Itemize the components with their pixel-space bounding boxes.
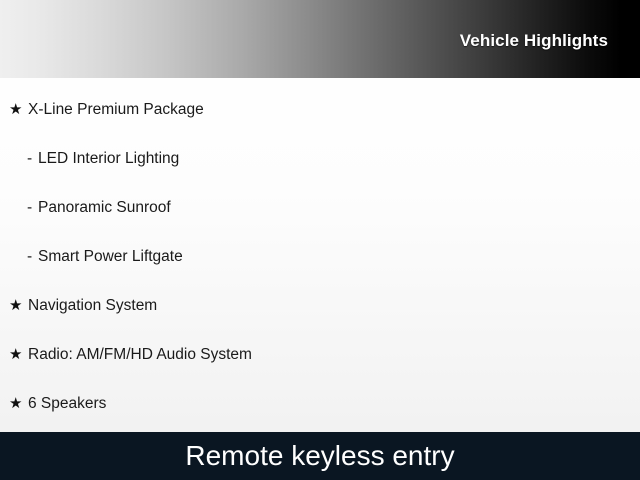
highlight-item: -Smart Power Liftgate: [0, 232, 640, 281]
dash-bullet-icon: -: [27, 200, 38, 216]
header-banner: Vehicle Highlights: [0, 0, 640, 78]
page-title: Vehicle Highlights: [460, 31, 608, 51]
highlight-item-label: X-Line Premium Package: [28, 102, 204, 118]
highlight-item-label: Navigation System: [28, 298, 157, 314]
dash-bullet-icon: -: [27, 249, 38, 265]
highlight-item-label: Radio: AM/FM/HD Audio System: [28, 347, 252, 363]
highlight-item-label: Smart Power Liftgate: [38, 249, 183, 265]
star-bullet-icon: ★: [9, 347, 28, 362]
highlights-list: ★X-Line Premium Package-LED Interior Lig…: [0, 78, 640, 432]
star-bullet-icon: ★: [9, 102, 28, 117]
star-bullet-icon: ★: [9, 396, 28, 411]
highlight-item: ★Radio: AM/FM/HD Audio System: [0, 330, 640, 379]
star-bullet-icon: ★: [9, 298, 28, 313]
highlight-item: ★X-Line Premium Package: [0, 85, 640, 134]
footer-banner: Remote keyless entry: [0, 432, 640, 480]
highlight-item-label: Panoramic Sunroof: [38, 200, 171, 216]
highlight-item: -Panoramic Sunroof: [0, 183, 640, 232]
highlight-item-label: LED Interior Lighting: [38, 151, 179, 167]
dash-bullet-icon: -: [27, 151, 38, 167]
footer-feature-text: Remote keyless entry: [185, 442, 454, 470]
highlight-item: -LED Interior Lighting: [0, 134, 640, 183]
highlight-item: ★Navigation System: [0, 281, 640, 330]
highlight-item-label: 6 Speakers: [28, 396, 106, 412]
vehicle-highlights-slide: Vehicle Highlights ★X-Line Premium Packa…: [0, 0, 640, 480]
highlight-item: ★6 Speakers: [0, 379, 640, 428]
